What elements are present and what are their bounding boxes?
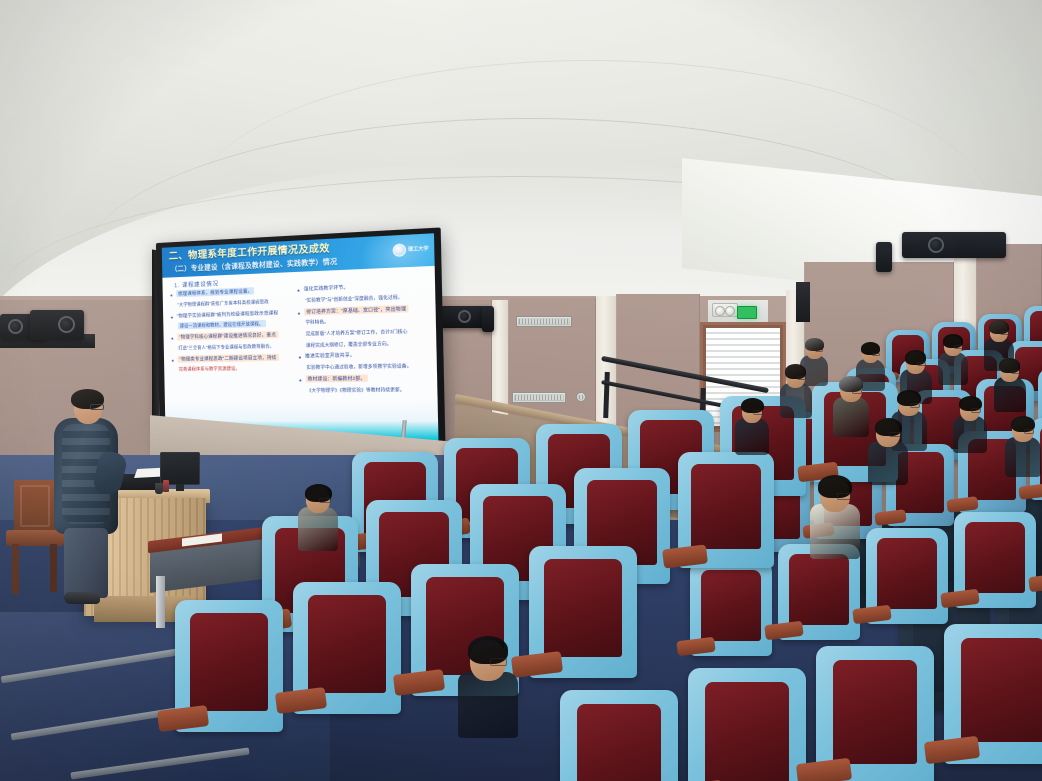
person-torso [868,441,908,485]
slide-subline: 《大学物理学》《物理实验》等教材持续更新。 [299,386,430,394]
lecture-hall-photo: 二、物理系年度工作开展情况及成效 （二）专业建设（含课程及教材建设、实践教学）情… [0,0,1042,781]
glasses-icon [852,389,862,394]
loudspeaker [902,232,1006,258]
slide-body: 梳理课程体系，规划专业课程设置。 "大学物理课程群"获批广东省本科高校课程思政 … [170,279,431,425]
university-emblem-icon [392,243,406,257]
seat-cushion [833,660,918,764]
loudspeaker [876,242,892,272]
audience-member [876,420,910,484]
slide-bullet: 修订培养方案："厚基础、宽口径"，突出物理 [298,305,429,316]
slide-header: 二、物理系年度工作开展情况及成效 （二）专业建设（含课程及教材建设、实践教学）情… [162,233,435,278]
slide-column-left: 梳理课程体系，规划专业课程设置。 "大学物理课程群"获批广东省本科高校课程思政 … [170,285,294,425]
audience-member [820,478,863,558]
audience-member [840,378,871,436]
speaker-cone-icon [8,319,23,334]
chair-back [14,480,56,532]
glasses-icon [872,353,880,357]
slide-subline: 学科特色。 [298,317,429,327]
glasses-icon [815,348,823,352]
loudspeaker [482,306,494,332]
glasses-icon [1000,331,1009,335]
auditorium-seat[interactable] [690,560,772,656]
slide-bullet: "物理类专业课程思政"二期建设项目立项，持续 [172,354,293,363]
glasses-icon [837,493,851,500]
glasses-icon [490,658,507,666]
person-torso [780,383,812,418]
seat-cushion [577,704,662,781]
auditorium-seat[interactable] [944,624,1042,764]
slide-bullet: 梳理课程体系，规划专业课程设置。 [170,287,291,298]
slide-subline: "实验教学"与"创新创业"深度融合，强化过程。 [298,293,429,304]
slide-subline: 实验教学中心通过验收，新增多项教学实验设备。 [299,363,430,372]
auditorium-seat[interactable] [175,600,283,732]
speaker-cone-icon [458,310,471,323]
glasses-icon [971,408,981,413]
seat-cushion [691,464,760,550]
slide-subline: "大学物理课程群"获批广东省本科高校课程思政 [171,298,292,309]
hvac-vent [516,316,572,327]
seat-cushion [705,682,790,781]
glasses-icon [917,362,926,366]
person-torso [298,507,338,551]
auditorium-seat[interactable] [688,668,806,781]
seat-cushion [789,554,848,625]
person-torso [1005,437,1041,477]
glasses-icon [910,403,920,408]
audience-member [306,486,340,550]
slide-bullet: "物理学实验课程群"被列为校级课程思政示范课程 [171,309,292,319]
podium-pen-holder [163,480,169,492]
person-torso [994,377,1026,412]
presenter-legs [64,528,108,598]
person-torso [810,504,860,559]
audience-member [1000,360,1027,411]
auditorium-seat[interactable] [866,528,948,624]
university-name: 理工大学 [408,245,429,253]
presenter [52,392,122,607]
glasses-icon [954,345,963,349]
chair-leg [12,544,19,594]
slide-bullet: "物理学科核心课程群"建设推进情况良好，重点 [171,332,292,342]
desk-leg [156,576,165,628]
glasses-icon [753,410,763,415]
slide-bullet: 推进实验室开放共享。 [299,351,430,360]
slide-bullet: 强化实践教学环节。 [297,281,428,293]
slide-subline: 完成新版"人才培养方案"修订工作，合计3门核心 [298,328,429,338]
podium-cup [155,483,163,494]
seat-cushion [965,522,1024,593]
slide-subline: 完善课程体系与教学资源建设。 [172,365,293,373]
glasses-icon [90,404,104,410]
loudspeaker [30,310,84,340]
speaker-cone-icon [58,316,75,333]
seat-cushion [961,638,1042,742]
exit-sign [737,306,757,319]
person-torso [938,352,968,385]
auditorium-seat[interactable] [678,452,774,568]
audience-member [960,398,989,452]
hvac-vent [512,392,566,403]
speaker-cone-icon [928,237,944,253]
audience-member [786,366,813,417]
person-torso [458,672,518,738]
person-torso [735,418,769,455]
presenter-shoe [64,592,100,604]
auditorium-seat[interactable] [560,690,678,781]
glasses-icon [1011,370,1020,374]
audience-member [944,336,970,384]
glasses-icon [1024,429,1034,434]
auditorium-seat[interactable] [954,512,1036,608]
glasses-icon [889,432,901,437]
person-torso [833,397,869,437]
wall-bracket [796,282,810,322]
monitor-stand [176,484,184,491]
presentation-slide: 二、物理系年度工作开展情况及成效 （二）专业建设（含课程及教材建设、实践教学）情… [162,233,439,446]
glasses-icon [797,376,806,380]
slide-subline: 建设一流课程和教材，建设在线开放课程。 [171,321,292,331]
slide-column-right: 强化实践教学环节。 "实验教学"与"创新创业"深度融合，强化过程。 修订培养方案… [297,279,431,425]
audience-member [1012,418,1042,476]
person-torso [953,416,987,453]
emergency-light [712,303,738,317]
seat-cushion [190,613,268,711]
university-logo: 理工大学 [392,240,429,258]
seat-cushion [877,538,936,609]
auditorium-seat[interactable] [529,546,637,678]
audience-member [470,640,521,736]
seat-cushion [308,595,386,693]
ceiling-sensor [576,392,586,402]
audience-member [742,400,771,454]
seat-cushion [544,559,622,657]
slide-subline: 打造"三全育人"格局下专业课程与思政教育融合。 [171,343,292,352]
slide-bullet: 教材建设：新编教材2部。 [299,375,430,383]
auditorium-seat[interactable] [293,582,401,714]
slide-subline: 课程完成大纲修订，覆盖全部专业方向。 [299,340,430,349]
seat-cushion [701,570,760,641]
auditorium-seat[interactable] [816,646,934,781]
glasses-icon [319,498,331,503]
